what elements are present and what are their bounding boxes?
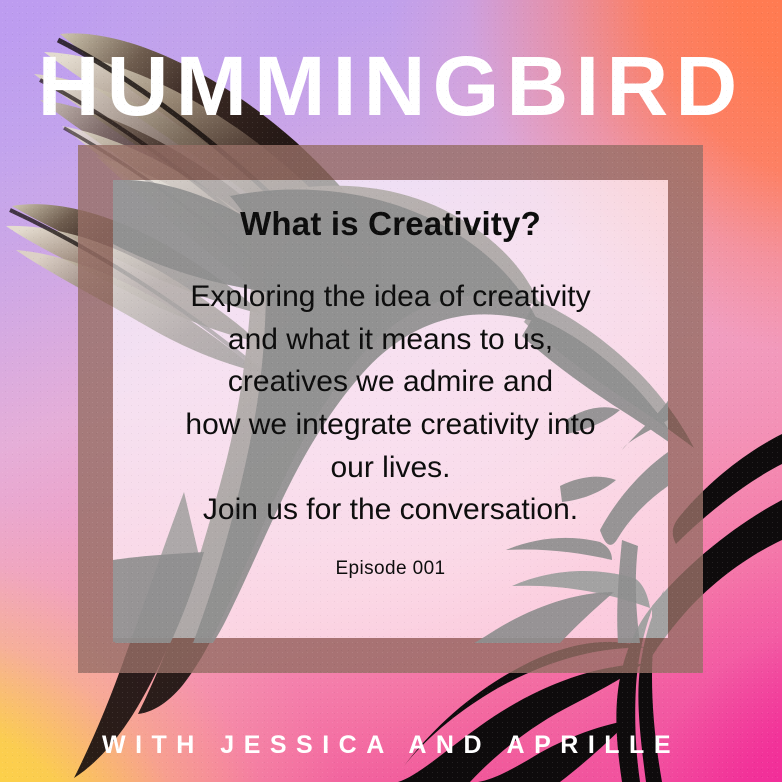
grain-texture xyxy=(0,0,782,782)
podcast-cover-art: What is Creativity? Exploring the idea o… xyxy=(0,0,782,782)
